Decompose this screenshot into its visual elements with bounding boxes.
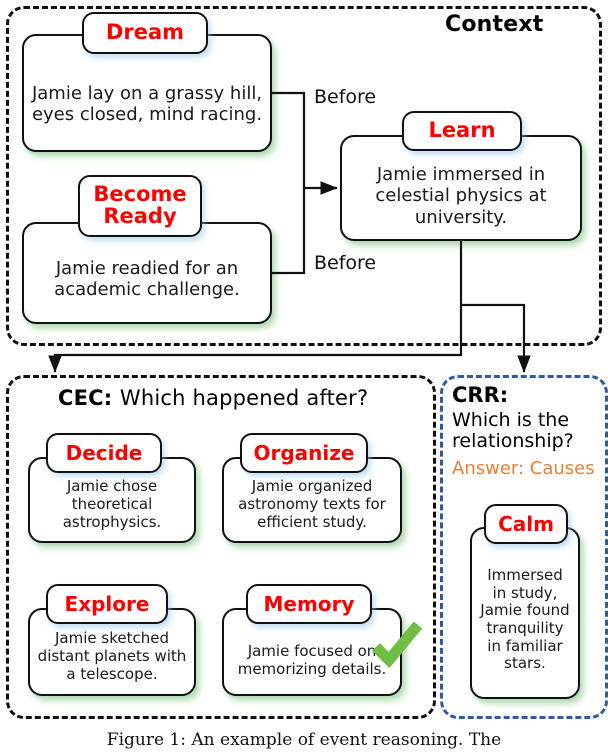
event-card-body: Immersed in study, Jamie found tranquili… [470, 527, 580, 699]
cec-label: CEC: [58, 386, 112, 410]
crr-question-line2: relationship? [452, 430, 574, 452]
option-card-decide[interactable]: Jamie chose theoretical astrophysics. De… [28, 457, 196, 543]
event-tag-become-ready[interactable]: Become Ready [78, 175, 202, 237]
cec-question: Which happened after? [120, 386, 368, 410]
option-card-explore[interactable]: Jamie sketched distant planets with a te… [28, 608, 196, 696]
event-card-dream[interactable]: Jamie lay on a grassy hill, eyes closed,… [22, 34, 272, 152]
event-card-calm[interactable]: Immersed in study, Jamie found tranquili… [470, 527, 580, 699]
option-tag-explore[interactable]: Explore [46, 584, 168, 624]
option-text: Jamie chose theoretical astrophysics. [30, 468, 194, 531]
figure-caption: Figure 1: An example of event reasoning.… [0, 730, 608, 750]
crr-label: CRR: [452, 383, 508, 407]
event-text: Jamie lay on a grassy hill, eyes closed,… [24, 61, 270, 125]
event-text: Jamie immersed in celestial physics at u… [342, 148, 580, 228]
event-tag-learn[interactable]: Learn [402, 111, 522, 151]
option-tag-decide[interactable]: Decide [46, 433, 162, 473]
edge-label-before-bottom: Before [314, 252, 376, 274]
context-panel-title: Context [445, 12, 543, 37]
option-tag-memory[interactable]: Memory [246, 584, 372, 624]
event-card-learn[interactable]: Jamie immersed in celestial physics at u… [340, 135, 582, 241]
option-tag-organize[interactable]: Organize [240, 433, 368, 473]
edge-label-before-top: Before [314, 86, 376, 108]
event-card-body: Jamie readied for an academic challenge. [22, 222, 272, 324]
check-icon [368, 615, 426, 673]
crr-answer: Answer: Causes [452, 458, 595, 479]
option-text: Jamie organized astronomy texts for effi… [224, 468, 400, 531]
crr-question-line1: Which is the [452, 409, 569, 431]
event-card-become-ready[interactable]: Jamie readied for an academic challenge.… [22, 222, 272, 324]
event-tag-calm[interactable]: Calm [484, 504, 568, 544]
event-tag-dream[interactable]: Dream [82, 12, 208, 54]
crr-question: Which is the relationship? [452, 410, 574, 453]
cec-panel-title: CEC: Which happened after? [58, 386, 368, 410]
event-text: Immersed in study, Jamie found tranquili… [472, 553, 578, 673]
option-text: Jamie sketched distant planets with a te… [30, 620, 194, 683]
event-text: Jamie readied for an academic challenge. [24, 246, 270, 300]
option-card-organize[interactable]: Jamie organized astronomy texts for effi… [222, 457, 402, 543]
figure-canvas: Context Jamie lay on a grassy hill, eyes… [0, 0, 608, 756]
